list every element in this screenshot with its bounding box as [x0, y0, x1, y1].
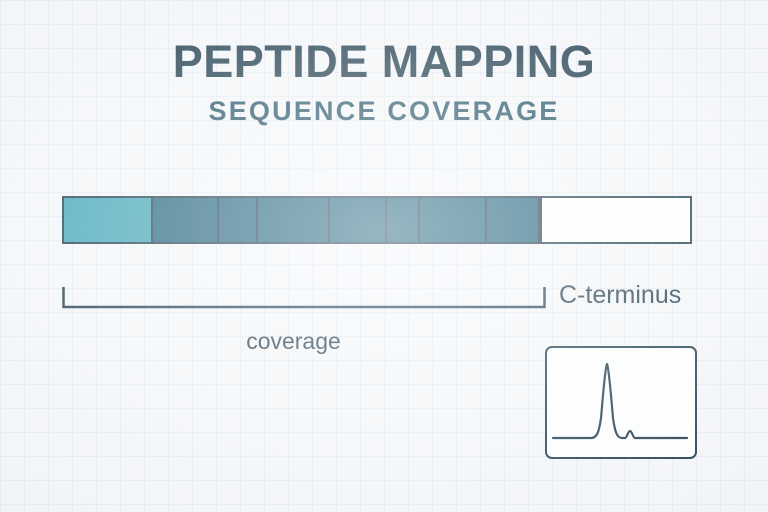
- coverage-segment-9[interactable]: [540, 198, 690, 242]
- title-block: PEPTIDE MAPPING SEQUENCE COVERAGE: [0, 38, 768, 127]
- coverage-segment-8[interactable]: [487, 198, 540, 242]
- coverage-segment-4[interactable]: [258, 198, 331, 242]
- infographic-canvas: PEPTIDE MAPPING SEQUENCE COVERAGE covera…: [0, 0, 768, 512]
- page-subtitle: SEQUENCE COVERAGE: [0, 96, 768, 127]
- page-title: PEPTIDE MAPPING: [0, 38, 768, 86]
- coverage-segment-7[interactable]: [420, 198, 488, 242]
- coverage-bracket: [62, 287, 546, 309]
- coverage-segment-2[interactable]: [153, 198, 219, 242]
- chromatogram-inset[interactable]: [545, 346, 697, 459]
- sequence-coverage-bar[interactable]: [62, 196, 692, 244]
- c-terminus-label: C-terminus: [559, 281, 681, 310]
- coverage-segment-3[interactable]: [219, 198, 258, 242]
- coverage-segment-6[interactable]: [387, 198, 420, 242]
- chromatogram-trace: [553, 364, 687, 438]
- coverage-segment-1[interactable]: [64, 198, 153, 242]
- coverage-label: coverage: [196, 328, 391, 355]
- bracket-path: [64, 288, 545, 307]
- coverage-segment-5[interactable]: [330, 198, 387, 242]
